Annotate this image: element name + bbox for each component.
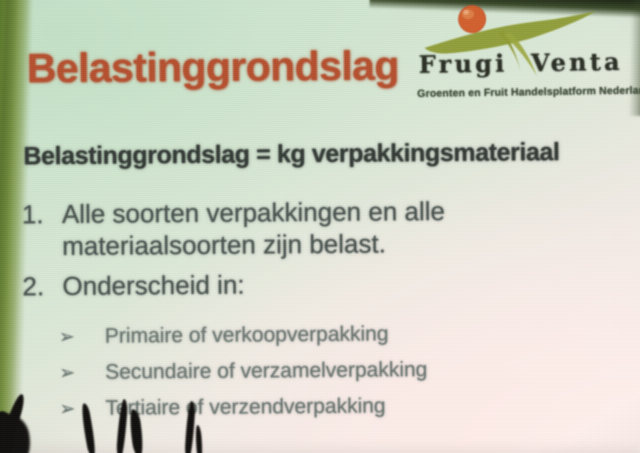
list-item-text: Alle soorten verpakkingen en alle materi… — [62, 195, 620, 263]
list-item: ➢ Primaire of verkoopverpakking — [59, 320, 631, 360]
list-item-marker: 1. — [18, 199, 62, 230]
list-item: ➢ Tertiaire of verzendverpakking — [59, 392, 631, 432]
arrow-bullet-icon: ➢ — [59, 324, 105, 350]
slide-title: Belastinggrondslag — [27, 42, 399, 92]
list-item-text: Secundaire of verzamelverpakking — [105, 357, 427, 386]
slide-content: Belastinggrondslag Belastinggrondslag = … — [0, 0, 640, 453]
list-item: 1. Alle soorten verpakkingen en alle mat… — [18, 195, 620, 263]
sub-bullet-list: ➢ Primaire of verkoopverpakking ➢ Secund… — [59, 320, 632, 432]
numbered-list: 1. Alle soorten verpakkingen en alle mat… — [18, 195, 621, 313]
slide-subtitle: Belastinggrondslag = kg verpakkingsmater… — [23, 138, 559, 171]
list-item-text: Primaire of verkoopverpakking — [105, 321, 389, 349]
list-item-text: Tertiaire of verzendverpakking — [105, 393, 385, 421]
list-item-text: Onderscheid in: — [62, 270, 244, 303]
logo-tagline: Groenten en Fruit Handelsplatform Nederl… — [417, 85, 629, 100]
frugi-venta-figure-icon — [406, 1, 631, 78]
frugi-venta-logo: Frugi Venta Groenten en Fruit Handelspla… — [406, 1, 632, 108]
list-item-marker: 2. — [18, 271, 62, 302]
list-item: ➢ Secundaire of verzamelverpakking — [59, 356, 631, 396]
list-item: 2. Onderscheid in: — [18, 267, 620, 303]
arrow-bullet-icon: ➢ — [59, 396, 105, 422]
arrow-bullet-icon: ➢ — [59, 360, 105, 386]
projected-slide-photo: Belastinggrondslag Belastinggrondslag = … — [0, 0, 640, 453]
